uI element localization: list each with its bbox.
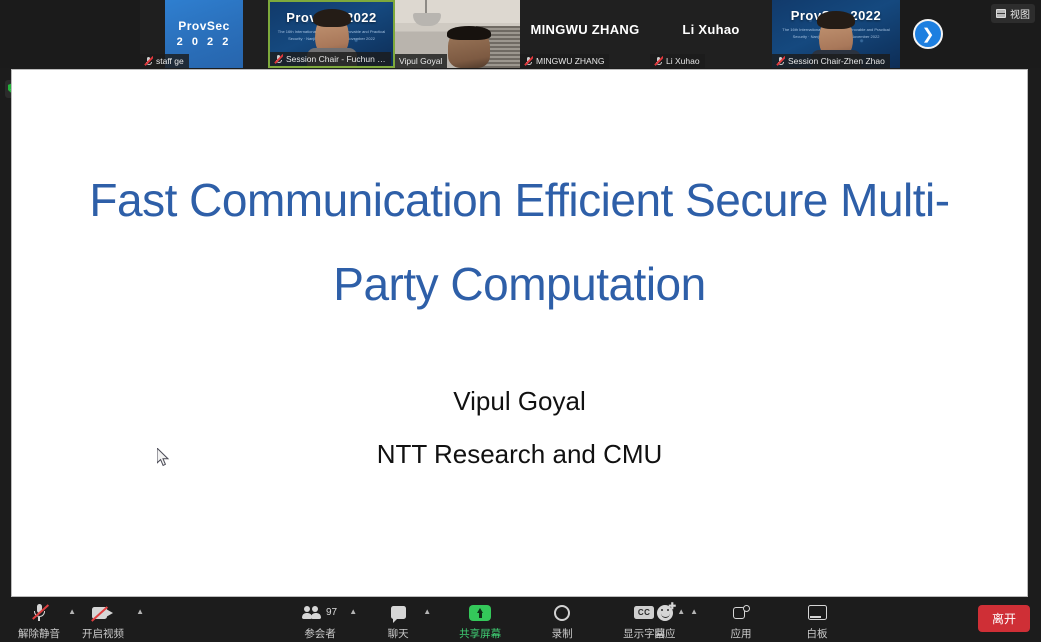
chat-caret-icon[interactable]: ▲	[423, 608, 431, 616]
grid-view-icon	[996, 9, 1006, 18]
whiteboard-button-label: 白板	[807, 626, 828, 641]
participant-tile-vipul-goyal[interactable]: Vipul Goyal	[395, 0, 520, 68]
participant-filmstrip: ProvSec 2 0 2 2 staff ge ProvSec 2022 Th…	[0, 0, 1041, 68]
start-video-button-label: 开启视频	[82, 626, 124, 641]
slide-author: Vipul Goyal	[12, 386, 1027, 417]
tile-display-name: Li Xuhao	[650, 22, 772, 37]
participants-caret-icon[interactable]: ▲	[349, 608, 357, 616]
provsec-logo-year: 2 0 2 2	[177, 36, 232, 48]
participants-count: 97	[326, 607, 337, 618]
participants-button[interactable]: 97 参会者 ▲	[303, 599, 337, 641]
chat-bubble-icon	[391, 606, 406, 619]
record-button-label: 录制	[552, 626, 573, 641]
tile-name-label: Session Chair - Fuchun …	[286, 54, 386, 64]
participant-tile-session-chair-fuchun[interactable]: ProvSec 2022 The 16th International Conf…	[268, 0, 395, 68]
apps-button-label: 应用	[731, 626, 752, 641]
lamp-cord	[425, 0, 427, 14]
toolbar-left-group: 解除静音 ▲ 开启视频 ▲	[18, 599, 124, 641]
chat-button[interactable]: 聊天 ▲	[381, 599, 415, 641]
mic-muted-icon	[654, 56, 663, 66]
tile-name-label: Vipul Goyal	[399, 56, 442, 66]
share-screen-button-label: 共享屏幕	[459, 626, 501, 641]
presentation-slide[interactable]: Fast Communication Efficient Secure Mult…	[11, 69, 1028, 597]
mic-muted-icon	[274, 54, 283, 64]
chevron-right-icon[interactable]: ❯	[913, 19, 943, 49]
reactions-smiley-icon: ✚	[657, 605, 673, 621]
participant-tile-mingwu-zhang[interactable]: MINGWU ZHANG MINGWU ZHANG	[520, 0, 650, 68]
toolbar-center-group: 97 参会者 ▲ 聊天 ▲ 共享屏幕 录制 CC 显示字幕 ▲	[303, 599, 665, 641]
tile-display-name: MINGWU ZHANG	[520, 22, 650, 37]
participants-icon	[303, 606, 323, 619]
share-screen-icon	[469, 605, 491, 621]
mic-muted-icon	[144, 56, 153, 66]
apps-button[interactable]: 应用	[724, 599, 758, 641]
tile-namebar: Vipul Goyal	[395, 54, 447, 68]
view-mode-button[interactable]: 视图	[991, 4, 1035, 23]
mic-muted-icon	[524, 56, 533, 66]
chat-button-label: 聊天	[388, 626, 409, 641]
provsec-logo-title: ProvSec	[178, 19, 230, 33]
lamp-shade	[413, 13, 441, 26]
reactions-button-label: 回应	[655, 626, 676, 641]
camera-off-icon	[92, 606, 114, 620]
whiteboard-button[interactable]: 白板	[800, 599, 834, 641]
tile-namebar: MINGWU ZHANG	[520, 54, 609, 68]
mute-button-label: 解除静音	[18, 626, 60, 641]
mute-options-caret-icon[interactable]: ▲	[68, 608, 76, 616]
reactions-button[interactable]: ✚ 回应 ▲	[648, 599, 682, 641]
mic-muted-icon	[33, 604, 46, 621]
tile-name-label: Li Xuhao	[666, 56, 700, 66]
shared-screen-stage: Fast Communication Efficient Secure Mult…	[0, 68, 1041, 597]
participants-button-label: 参会者	[304, 626, 336, 641]
filmstrip-next-page[interactable]: ❯	[900, 0, 956, 68]
reactions-caret-icon[interactable]: ▲	[690, 608, 698, 616]
slide-title: Fast Communication Efficient Secure Mult…	[52, 158, 987, 326]
record-icon	[554, 605, 570, 621]
whiteboard-icon	[808, 605, 827, 620]
tile-name-label: MINGWU ZHANG	[536, 56, 604, 66]
tile-namebar: Session Chair-Zhen Zhao	[772, 54, 890, 68]
zoom-meeting-window: ProvSec 2 0 2 2 staff ge ProvSec 2022 Th…	[0, 0, 1041, 642]
tile-namebar: staff ge	[140, 54, 189, 68]
mouse-cursor	[157, 448, 170, 467]
mute-button[interactable]: 解除静音 ▲	[18, 599, 60, 641]
meeting-toolbar: 解除静音 ▲ 开启视频 ▲ 97 参会者 ▲ 聊天 ▲	[0, 597, 1041, 642]
tile-namebar: Session Chair - Fuchun …	[270, 52, 391, 66]
participant-tile-session-chair-zhen-zhao[interactable]: ProvSec 2022 The 16th International Conf…	[772, 0, 900, 68]
filmstrip-spacer	[0, 0, 140, 68]
participant-tile-staff-ge[interactable]: ProvSec 2 0 2 2 staff ge	[140, 0, 268, 68]
view-mode-label: 视图	[1010, 6, 1030, 21]
record-button[interactable]: 录制	[545, 599, 579, 641]
toolbar-right-group: ✚ 回应 ▲ 应用 白板	[648, 599, 834, 641]
webcam-person	[448, 28, 490, 68]
tile-namebar: Li Xuhao	[650, 54, 705, 68]
leave-meeting-button[interactable]: 离开	[978, 605, 1030, 632]
apps-icon	[733, 605, 750, 621]
video-options-caret-icon[interactable]: ▲	[136, 608, 144, 616]
share-screen-button[interactable]: 共享屏幕	[459, 599, 501, 641]
tile-name-label: Session Chair-Zhen Zhao	[788, 56, 885, 66]
start-video-button[interactable]: 开启视频 ▲	[82, 599, 124, 641]
tile-name-label: staff ge	[156, 56, 184, 66]
mic-muted-icon	[776, 56, 785, 66]
participant-tile-li-xuhao[interactable]: Li Xuhao Li Xuhao	[650, 0, 772, 68]
